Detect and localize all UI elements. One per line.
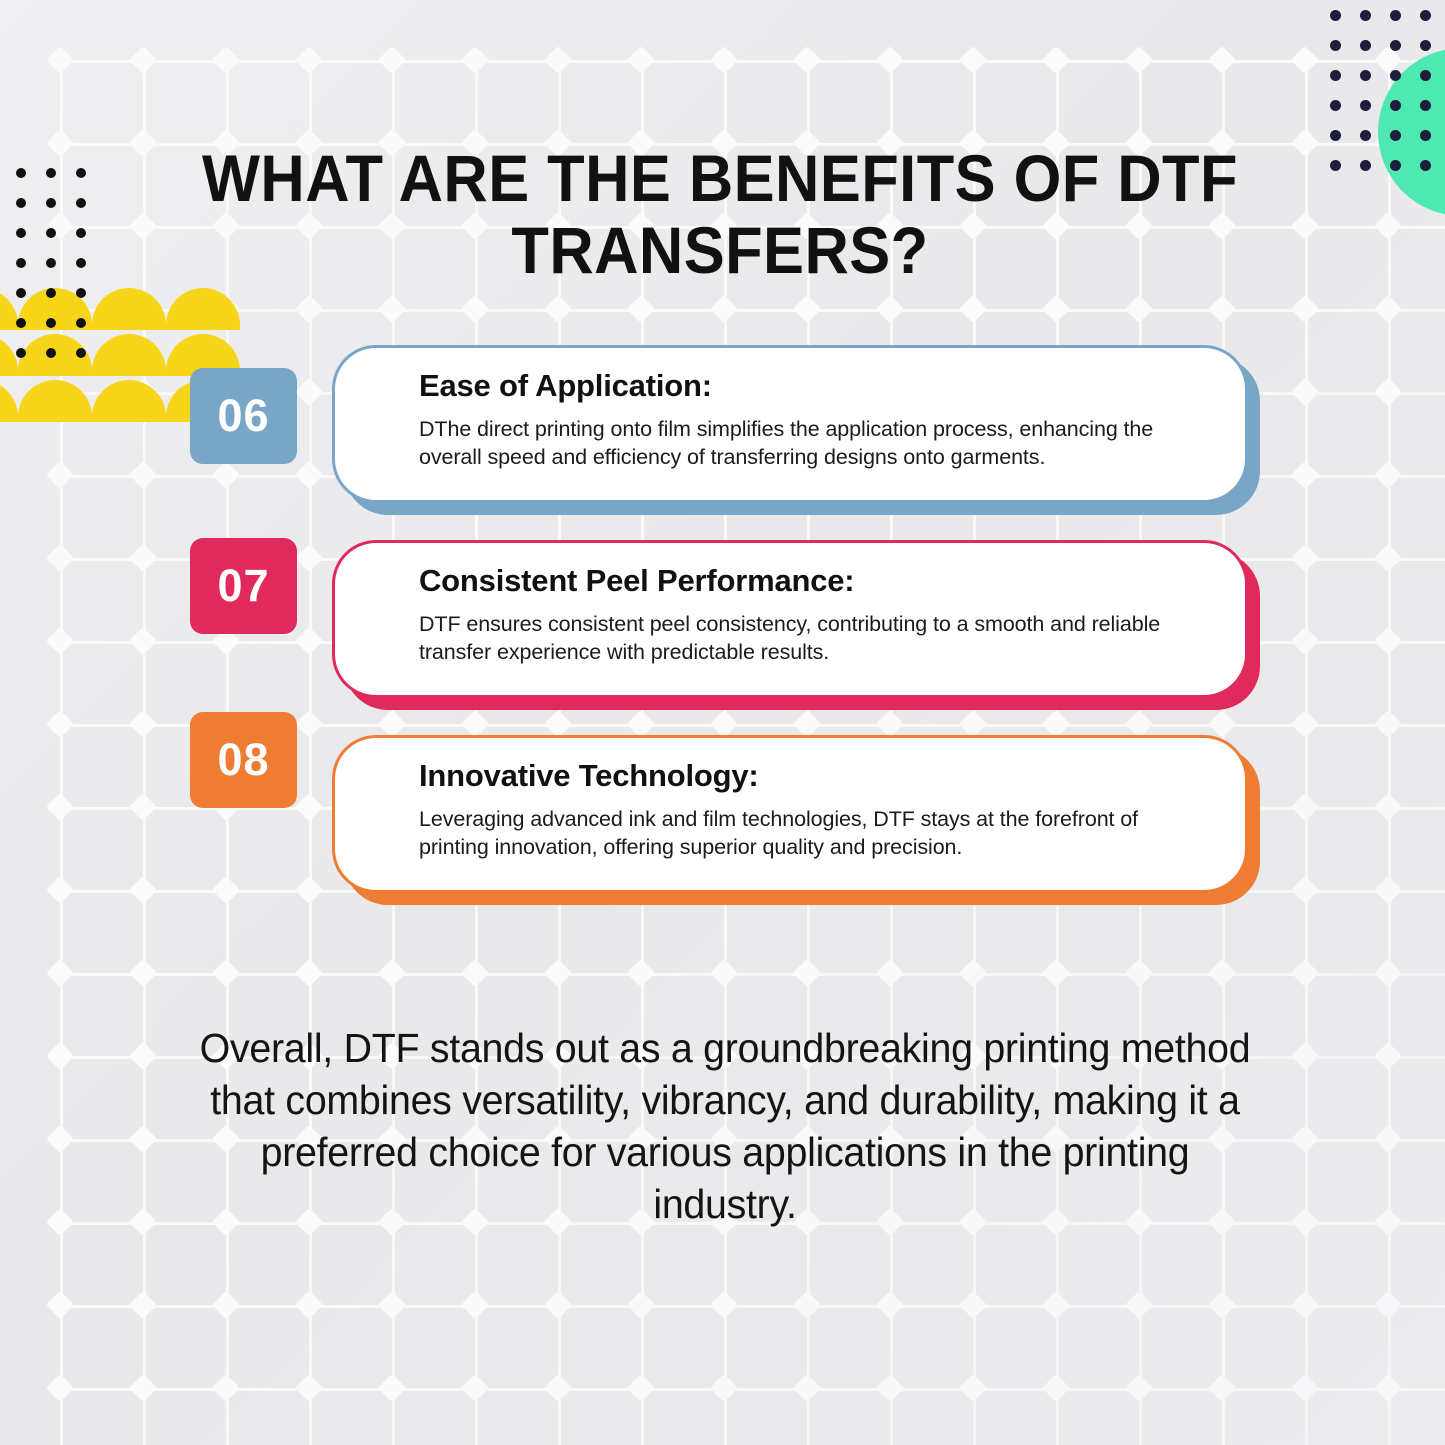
grid-node-diamond xyxy=(793,1291,821,1319)
card-surface: Consistent Peel Performance:DTF ensures … xyxy=(332,540,1248,698)
grid-node-diamond xyxy=(129,1208,157,1236)
benefit-card-list: 06Ease of Application:DThe direct printi… xyxy=(0,0,1445,1000)
card-number-badge-06: 06 xyxy=(190,368,297,464)
grid-node-diamond xyxy=(627,1374,655,1402)
grid-node-diamond xyxy=(129,1125,157,1153)
summary-paragraph: Overall, DTF stands out as a groundbreak… xyxy=(192,1022,1258,1230)
grid-node-diamond xyxy=(1125,1374,1153,1402)
grid-node-diamond xyxy=(1374,1125,1402,1153)
benefit-card[interactable]: Ease of Application:DThe direct printing… xyxy=(332,345,1262,517)
card-surface: Ease of Application:DThe direct printing… xyxy=(332,345,1248,503)
grid-node-diamond xyxy=(1042,1291,1070,1319)
grid-node-diamond xyxy=(876,1374,904,1402)
grid-node-diamond xyxy=(378,1291,406,1319)
grid-node-diamond xyxy=(1291,1125,1319,1153)
grid-node-diamond xyxy=(1374,1291,1402,1319)
grid-node-diamond xyxy=(46,1374,74,1402)
grid-node-diamond xyxy=(1042,1374,1070,1402)
grid-node-diamond xyxy=(1374,1374,1402,1402)
grid-node-diamond xyxy=(46,1125,74,1153)
grid-node-diamond xyxy=(1291,1042,1319,1070)
grid-node-diamond xyxy=(1374,1042,1402,1070)
grid-node-diamond xyxy=(1125,1291,1153,1319)
card-body-text: Leveraging advanced ink and film technol… xyxy=(419,805,1211,861)
card-surface: Innovative Technology:Leveraging advance… xyxy=(332,735,1248,893)
grid-node-diamond xyxy=(212,1291,240,1319)
grid-node-diamond xyxy=(129,1291,157,1319)
card-number-badge-07: 07 xyxy=(190,538,297,634)
grid-node-diamond xyxy=(46,1291,74,1319)
card-number-label: 06 xyxy=(217,390,269,442)
grid-node-diamond xyxy=(544,1374,572,1402)
grid-node-diamond xyxy=(793,1374,821,1402)
grid-node-diamond xyxy=(959,1291,987,1319)
grid-node-diamond xyxy=(461,1291,489,1319)
card-number-label: 07 xyxy=(217,560,269,612)
grid-node-diamond xyxy=(46,1042,74,1070)
card-number-label: 08 xyxy=(217,734,269,786)
grid-node-diamond xyxy=(378,1374,406,1402)
grid-node-diamond xyxy=(1291,1374,1319,1402)
grid-node-diamond xyxy=(710,1374,738,1402)
infographic-poster: WHAT ARE THE BENEFITS OF DTF TRANSFERS? … xyxy=(0,0,1445,1445)
card-body-text: DThe direct printing onto film simplifie… xyxy=(419,415,1211,471)
grid-node-diamond xyxy=(129,1374,157,1402)
benefit-card[interactable]: Innovative Technology:Leveraging advance… xyxy=(332,735,1262,907)
card-number-badge-08: 08 xyxy=(190,712,297,808)
grid-node-diamond xyxy=(461,1374,489,1402)
card-heading: Innovative Technology: xyxy=(419,758,1211,794)
benefit-card[interactable]: Consistent Peel Performance:DTF ensures … xyxy=(332,540,1262,712)
grid-node-diamond xyxy=(295,1291,323,1319)
grid-node-diamond xyxy=(212,1374,240,1402)
grid-node-diamond xyxy=(876,1291,904,1319)
grid-node-diamond xyxy=(1208,1291,1236,1319)
grid-node-diamond xyxy=(710,1291,738,1319)
grid-node-diamond xyxy=(1291,1208,1319,1236)
grid-node-diamond xyxy=(959,1374,987,1402)
grid-node-diamond xyxy=(627,1291,655,1319)
grid-node-diamond xyxy=(1374,1208,1402,1236)
card-heading: Consistent Peel Performance: xyxy=(419,563,1211,599)
grid-node-diamond xyxy=(1291,1291,1319,1319)
grid-node-diamond xyxy=(129,1042,157,1070)
card-body-text: DTF ensures consistent peel consistency,… xyxy=(419,610,1211,666)
grid-node-diamond xyxy=(1208,1374,1236,1402)
grid-node-diamond xyxy=(544,1291,572,1319)
card-heading: Ease of Application: xyxy=(419,368,1211,404)
grid-node-diamond xyxy=(295,1374,323,1402)
grid-node-diamond xyxy=(46,1208,74,1236)
